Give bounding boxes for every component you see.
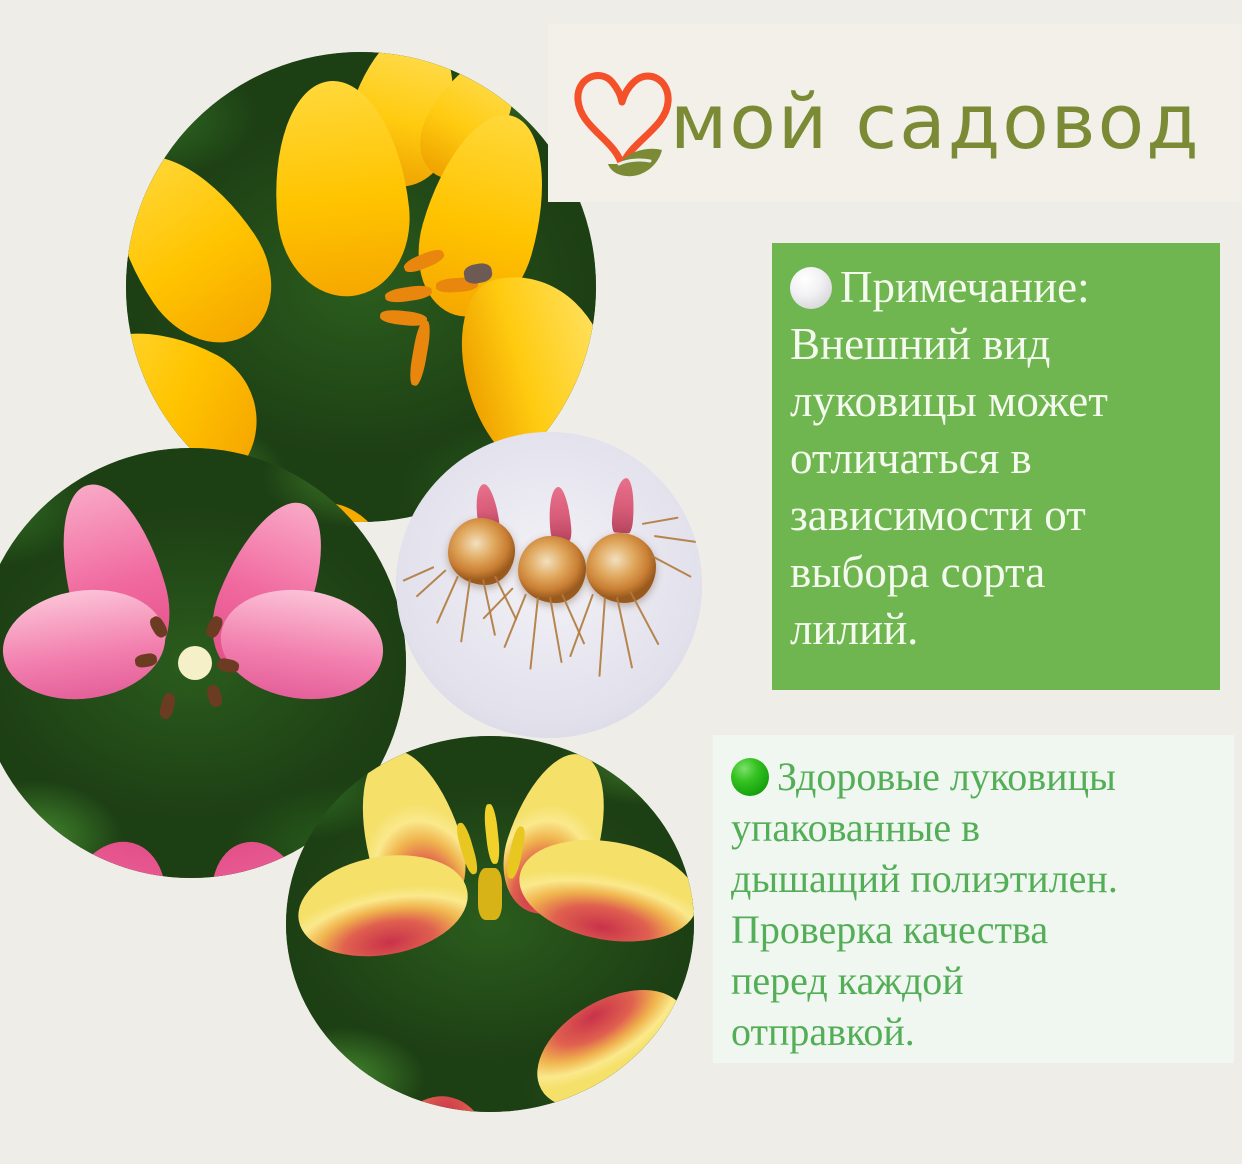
white-circle-bullet-icon <box>790 267 832 309</box>
poster-canvas: мой садовод <box>0 0 1242 1164</box>
note-line-text: Примечание: <box>840 259 1090 316</box>
lily-bulb <box>448 518 515 585</box>
note-line-6: лилий. <box>790 601 1202 658</box>
note-line-1: Внешний вид <box>790 316 1202 373</box>
healthy-bulbs-callout-box: Здоровые луковицы упакованные в дышащий … <box>713 735 1234 1063</box>
red-yellow-lily-photo <box>286 736 694 1112</box>
healthy-line-text: Здоровые луковицы <box>777 751 1116 802</box>
stamen <box>478 868 502 921</box>
brand-logo[interactable]: мой садовод <box>572 46 1232 198</box>
heart-leaf-icon <box>572 62 676 182</box>
healthy-line-1: упакованные в <box>731 802 1218 853</box>
healthy-line-3: Проверка качества <box>731 904 1218 955</box>
note-callout-box: Примечание: Внешний вид луковицы может о… <box>772 243 1220 690</box>
green-circle-bullet-icon <box>731 758 769 796</box>
note-line-5: выбора сорта <box>790 544 1202 601</box>
note-line-2: луковицы может <box>790 373 1202 430</box>
healthy-line-2: дышащий полиэтилен. <box>731 853 1218 904</box>
lily-bulbs-photo <box>396 432 702 738</box>
note-line-4: зависимости от <box>790 487 1202 544</box>
brand-name: мой садовод <box>670 84 1201 160</box>
note-line-0: Примечание: <box>790 259 1202 316</box>
healthy-line-4: перед каждой <box>731 955 1218 1006</box>
lily-bulb <box>518 536 585 603</box>
lily-bulb <box>586 533 656 603</box>
note-line-3: отличаться в <box>790 430 1202 487</box>
healthy-line-0: Здоровые луковицы <box>731 751 1218 802</box>
healthy-line-5: отправкой. <box>731 1006 1218 1057</box>
